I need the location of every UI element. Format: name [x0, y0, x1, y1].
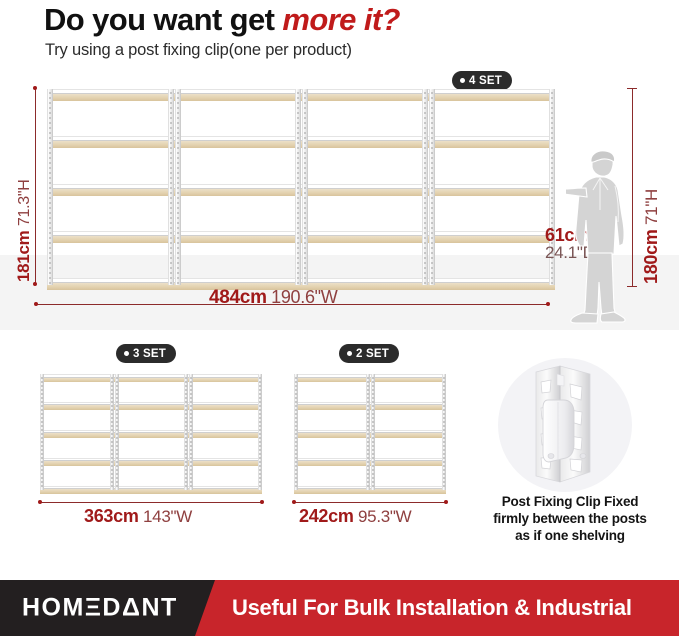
shelf-beam — [301, 278, 428, 283]
shelf-board — [47, 189, 174, 196]
post-perforation — [424, 272, 426, 274]
shelf-board — [174, 189, 301, 196]
shelf-board — [47, 236, 174, 243]
post-perforation — [41, 425, 43, 427]
post-perforation — [304, 117, 306, 119]
shelf-beam — [40, 402, 114, 406]
post-perforation — [259, 393, 261, 395]
post-perforation — [372, 405, 374, 407]
post-perforation — [111, 477, 113, 479]
post-perforation — [49, 107, 51, 109]
post-perforation — [443, 469, 445, 471]
post-perforation — [297, 247, 299, 249]
post-perforation — [177, 102, 179, 104]
shelf-board — [47, 141, 174, 148]
post-perforation — [551, 167, 553, 169]
shelf-post — [110, 374, 114, 490]
post-perforation — [297, 92, 299, 94]
post-perforation — [177, 197, 179, 199]
shelf-bay — [428, 89, 555, 285]
post-perforation — [443, 477, 445, 479]
post-perforation — [297, 212, 299, 214]
post-perforation — [443, 429, 445, 431]
post-perforation — [424, 167, 426, 169]
post-perforation — [424, 157, 426, 159]
post-perforation — [111, 453, 113, 455]
post-perforation — [177, 282, 179, 284]
post-perforation — [49, 242, 51, 244]
post-perforation — [111, 393, 113, 395]
post-perforation — [49, 252, 51, 254]
post-perforation — [431, 162, 433, 164]
post-perforation — [367, 409, 369, 411]
post-perforation — [49, 92, 51, 94]
post-perforation — [304, 177, 306, 179]
shelf-bay — [301, 89, 428, 285]
shelf-board — [301, 141, 428, 148]
post-perforation — [190, 425, 192, 427]
post-perforation — [41, 437, 43, 439]
post-perforation — [41, 481, 43, 483]
shelf-board — [40, 378, 114, 383]
post-perforation — [190, 381, 192, 383]
post-perforation — [372, 457, 374, 459]
set-badge-label: 2 SET — [356, 348, 389, 360]
post-perforation — [443, 385, 445, 387]
post-perforation — [304, 272, 306, 274]
shelf-beam — [114, 458, 188, 462]
post-perforation — [431, 132, 433, 134]
post-perforation — [177, 147, 179, 149]
shelf-beam — [114, 374, 188, 378]
post-perforation — [304, 197, 306, 199]
post-perforation — [443, 485, 445, 487]
post-perforation — [116, 481, 118, 483]
post-perforation — [424, 237, 426, 239]
post-perforation — [170, 252, 172, 254]
footer-banner: HOMΞDΔNT Useful For Bulk Installation & … — [0, 580, 679, 636]
post-perforation — [177, 262, 179, 264]
post-perforation — [431, 192, 433, 194]
post-perforation — [41, 405, 43, 407]
post-perforation — [424, 207, 426, 209]
post-perforation — [49, 97, 51, 99]
post-perforation — [424, 262, 426, 264]
post-perforation — [170, 282, 172, 284]
post-perforation — [431, 232, 433, 234]
post-perforation — [431, 167, 433, 169]
post-perforation — [424, 127, 426, 129]
post-perforation — [41, 381, 43, 383]
person-imperial: 71"H — [642, 189, 661, 225]
post-perforation — [304, 187, 306, 189]
post-perforation — [190, 429, 192, 431]
shelf-bay — [114, 374, 188, 490]
post-perforation — [424, 172, 426, 174]
post-perforation — [424, 122, 426, 124]
set-badge-label: 4 SET — [469, 75, 502, 87]
post-perforation — [116, 413, 118, 415]
headline-plain: Do you want get — [44, 2, 282, 37]
post-perforation — [116, 485, 118, 487]
post-perforation — [551, 152, 553, 154]
shelf-post — [115, 374, 119, 490]
shelf-bay — [40, 374, 114, 490]
post-perforation — [170, 132, 172, 134]
post-perforation — [190, 409, 192, 411]
post-perforation — [304, 247, 306, 249]
post-perforation — [259, 421, 261, 423]
post-perforation — [116, 465, 118, 467]
post-perforation — [185, 453, 187, 455]
post-perforation — [295, 377, 297, 379]
post-perforation — [367, 441, 369, 443]
person-icon — [566, 150, 628, 325]
post-perforation — [259, 381, 261, 383]
post-perforation — [304, 267, 306, 269]
shelf-post — [295, 89, 301, 285]
post-perforation — [190, 389, 192, 391]
post-perforation — [443, 449, 445, 451]
post-perforation — [304, 222, 306, 224]
post-perforation — [190, 397, 192, 399]
post-perforation — [41, 461, 43, 463]
shelf-board — [370, 489, 446, 494]
post-perforation — [177, 232, 179, 234]
post-perforation — [170, 142, 172, 144]
post-perforation — [431, 107, 433, 109]
post-perforation — [297, 117, 299, 119]
post-perforation — [170, 267, 172, 269]
post-perforation — [372, 445, 374, 447]
shelf-board — [40, 461, 114, 466]
post-perforation — [177, 202, 179, 204]
post-perforation — [49, 152, 51, 154]
post-perforation — [170, 192, 172, 194]
shelf-beam — [370, 402, 446, 406]
shelf-beam — [47, 184, 174, 189]
shelf-board — [428, 236, 555, 243]
post-perforation — [372, 433, 374, 435]
post-perforation — [41, 457, 43, 459]
post-perforation — [116, 421, 118, 423]
clip-caption-line2: firmly between the posts — [470, 510, 670, 527]
post-perforation — [177, 162, 179, 164]
post-perforation — [295, 425, 297, 427]
post-perforation — [367, 421, 369, 423]
shelf-beam — [188, 458, 262, 462]
post-perforation — [259, 397, 261, 399]
post-perforation — [372, 429, 374, 431]
post-perforation — [372, 465, 374, 467]
person-height-label: 180cm 71"H — [641, 189, 662, 284]
post-perforation — [367, 445, 369, 447]
post-perforation — [49, 167, 51, 169]
shelf-beam — [370, 486, 446, 490]
shelf-beam — [428, 278, 555, 283]
post-perforation — [424, 147, 426, 149]
post-perforation — [190, 417, 192, 419]
post-perforation — [367, 461, 369, 463]
shelf-bay — [47, 89, 174, 285]
set-badge-4: 4 SET — [452, 71, 512, 90]
width-metric-2set: 242cm — [299, 506, 354, 526]
post-perforation — [190, 449, 192, 451]
post-perforation — [185, 461, 187, 463]
post-perforation — [170, 202, 172, 204]
post-perforation — [424, 227, 426, 229]
post-perforation — [41, 421, 43, 423]
post-perforation — [170, 207, 172, 209]
post-perforation — [304, 242, 306, 244]
post-perforation — [111, 429, 113, 431]
post-perforation — [443, 425, 445, 427]
set-badge-2: 2 SET — [339, 344, 399, 363]
post-perforation — [185, 449, 187, 451]
person-silhouette — [566, 150, 628, 325]
post-perforation — [185, 421, 187, 423]
post-perforation — [367, 385, 369, 387]
post-perforation — [551, 272, 553, 274]
shelf-board — [370, 433, 446, 438]
clip-caption-line1: Post Fixing Clip Fixed — [470, 493, 670, 510]
post-perforation — [431, 257, 433, 259]
shelf-post — [371, 374, 375, 490]
shelf-post — [40, 374, 44, 490]
post-perforation — [304, 227, 306, 229]
shelf-post — [429, 89, 435, 285]
post-perforation — [185, 381, 187, 383]
post-perforation — [295, 449, 297, 451]
post-perforation — [190, 457, 192, 459]
shelf-beam — [428, 89, 555, 94]
post-perforation — [111, 445, 113, 447]
post-perforation — [41, 477, 43, 479]
post-perforation — [367, 469, 369, 471]
post-perforation — [111, 457, 113, 459]
shelf-post — [366, 374, 370, 490]
post-perforation — [177, 222, 179, 224]
brand-glyph-e-icon: Ξ — [85, 594, 103, 623]
post-perforation — [185, 445, 187, 447]
post-perforation — [304, 237, 306, 239]
post-perforation — [116, 457, 118, 459]
post-perforation — [304, 162, 306, 164]
shelf-beam — [47, 278, 174, 283]
post-perforation — [41, 453, 43, 455]
post-perforation — [185, 409, 187, 411]
post-perforation — [295, 481, 297, 483]
post-perforation — [185, 389, 187, 391]
post-perforation — [49, 212, 51, 214]
post-perforation — [177, 132, 179, 134]
post-perforation — [297, 147, 299, 149]
dim-dot-bottom — [33, 282, 37, 286]
post-perforation — [177, 242, 179, 244]
shelf-board — [188, 489, 262, 494]
post-perforation — [111, 465, 113, 467]
post-perforation — [41, 389, 43, 391]
post-perforation — [49, 247, 51, 249]
post-perforation — [424, 192, 426, 194]
post-perforation — [551, 137, 553, 139]
shelf-board — [47, 94, 174, 101]
post-perforation — [367, 449, 369, 451]
post-perforation — [551, 212, 553, 214]
post-perforation — [170, 117, 172, 119]
post-perforation — [431, 112, 433, 114]
post-perforation — [304, 192, 306, 194]
shelf-board — [40, 433, 114, 438]
post-perforation — [551, 92, 553, 94]
post-perforation — [297, 222, 299, 224]
post-perforation — [116, 425, 118, 427]
post-perforation — [431, 262, 433, 264]
post-perforation — [431, 252, 433, 254]
post-perforation — [551, 192, 553, 194]
post-perforation — [49, 192, 51, 194]
post-perforation — [304, 252, 306, 254]
post-perforation — [49, 222, 51, 224]
post-perforation — [295, 437, 297, 439]
dim-dot-right — [546, 302, 550, 306]
post-perforation — [372, 461, 374, 463]
post-perforation — [259, 445, 261, 447]
post-perforation — [49, 262, 51, 264]
post-perforation — [424, 132, 426, 134]
post-perforation — [367, 389, 369, 391]
post-perforation — [551, 127, 553, 129]
post-perforation — [295, 421, 297, 423]
post-perforation — [170, 197, 172, 199]
post-perforation — [177, 252, 179, 254]
post-perforation — [295, 477, 297, 479]
post-perforation — [297, 257, 299, 259]
post-perforation — [304, 277, 306, 279]
post-perforation — [297, 112, 299, 114]
post-perforation — [443, 389, 445, 391]
post-fixing-clip-icon — [498, 358, 632, 492]
post-perforation — [177, 177, 179, 179]
post-perforation — [367, 481, 369, 483]
shelf-board — [428, 283, 555, 290]
post-perforation — [424, 277, 426, 279]
shelf-beam — [188, 486, 262, 490]
post-perforation — [431, 217, 433, 219]
shelf-board — [188, 433, 262, 438]
post-perforation — [116, 461, 118, 463]
post-perforation — [49, 172, 51, 174]
post-perforation — [49, 162, 51, 164]
header: Do you want get more it? Try using a pos… — [0, 0, 679, 62]
post-perforation — [443, 413, 445, 415]
post-perforation — [49, 127, 51, 129]
post-perforation — [551, 217, 553, 219]
post-perforation — [41, 449, 43, 451]
shelf-board — [174, 141, 301, 148]
post-perforation — [41, 429, 43, 431]
post-perforation — [551, 157, 553, 159]
post-perforation — [551, 277, 553, 279]
post-perforation — [297, 202, 299, 204]
post-perforation — [424, 152, 426, 154]
post-perforation — [170, 227, 172, 229]
post-perforation — [443, 421, 445, 423]
post-perforation — [111, 469, 113, 471]
post-perforation — [190, 393, 192, 395]
post-perforation — [295, 409, 297, 411]
post-perforation — [49, 112, 51, 114]
post-perforation — [431, 212, 433, 214]
post-perforation — [297, 227, 299, 229]
post-perforation — [111, 397, 113, 399]
shelf-beam — [47, 89, 174, 94]
post-perforation — [297, 237, 299, 239]
shelf-board — [174, 236, 301, 243]
post-perforation — [431, 222, 433, 224]
width-dimension-label: 484cm 190.6"W — [209, 287, 337, 309]
post-perforation — [111, 381, 113, 383]
post-perforation — [551, 197, 553, 199]
shelving-unit-3set — [40, 374, 262, 490]
post-perforation — [424, 267, 426, 269]
post-perforation — [431, 102, 433, 104]
post-perforation — [185, 429, 187, 431]
post-perforation — [297, 137, 299, 139]
post-perforation — [49, 142, 51, 144]
post-perforation — [170, 102, 172, 104]
post-perforation — [431, 197, 433, 199]
post-perforation — [177, 127, 179, 129]
post-perforation — [431, 227, 433, 229]
post-perforation — [424, 242, 426, 244]
brand-part2: D — [102, 594, 122, 623]
post-perforation — [116, 449, 118, 451]
post-perforation — [116, 433, 118, 435]
shelf-beam — [301, 136, 428, 141]
post-perforation — [116, 429, 118, 431]
post-perforation — [297, 132, 299, 134]
shelf-board — [301, 94, 428, 101]
footer-tagline: Useful For Bulk Installation & Industria… — [232, 595, 632, 621]
post-perforation — [49, 227, 51, 229]
post-perforation — [111, 401, 113, 403]
post-perforation — [41, 473, 43, 475]
post-perforation — [367, 377, 369, 379]
post-fixing-clip-figure — [498, 358, 632, 492]
shelf-beam — [114, 486, 188, 490]
post-perforation — [297, 182, 299, 184]
post-perforation — [177, 247, 179, 249]
shelf-beam — [428, 136, 555, 141]
shelf-board — [40, 489, 114, 494]
post-perforation — [424, 112, 426, 114]
shelf-board — [294, 405, 370, 410]
post-perforation — [190, 437, 192, 439]
post-perforation — [185, 437, 187, 439]
post-perforation — [297, 167, 299, 169]
post-perforation — [170, 157, 172, 159]
post-perforation — [424, 102, 426, 104]
main-display-section: 4 SET 181cm 71.3"H 484cm 190.6"W 61cm 24… — [0, 62, 679, 330]
post-perforation — [259, 385, 261, 387]
post-perforation — [116, 417, 118, 419]
post-perforation — [116, 397, 118, 399]
post-perforation — [190, 433, 192, 435]
post-perforation — [367, 457, 369, 459]
post-perforation — [185, 385, 187, 387]
set-badge-label: 3 SET — [133, 348, 166, 360]
